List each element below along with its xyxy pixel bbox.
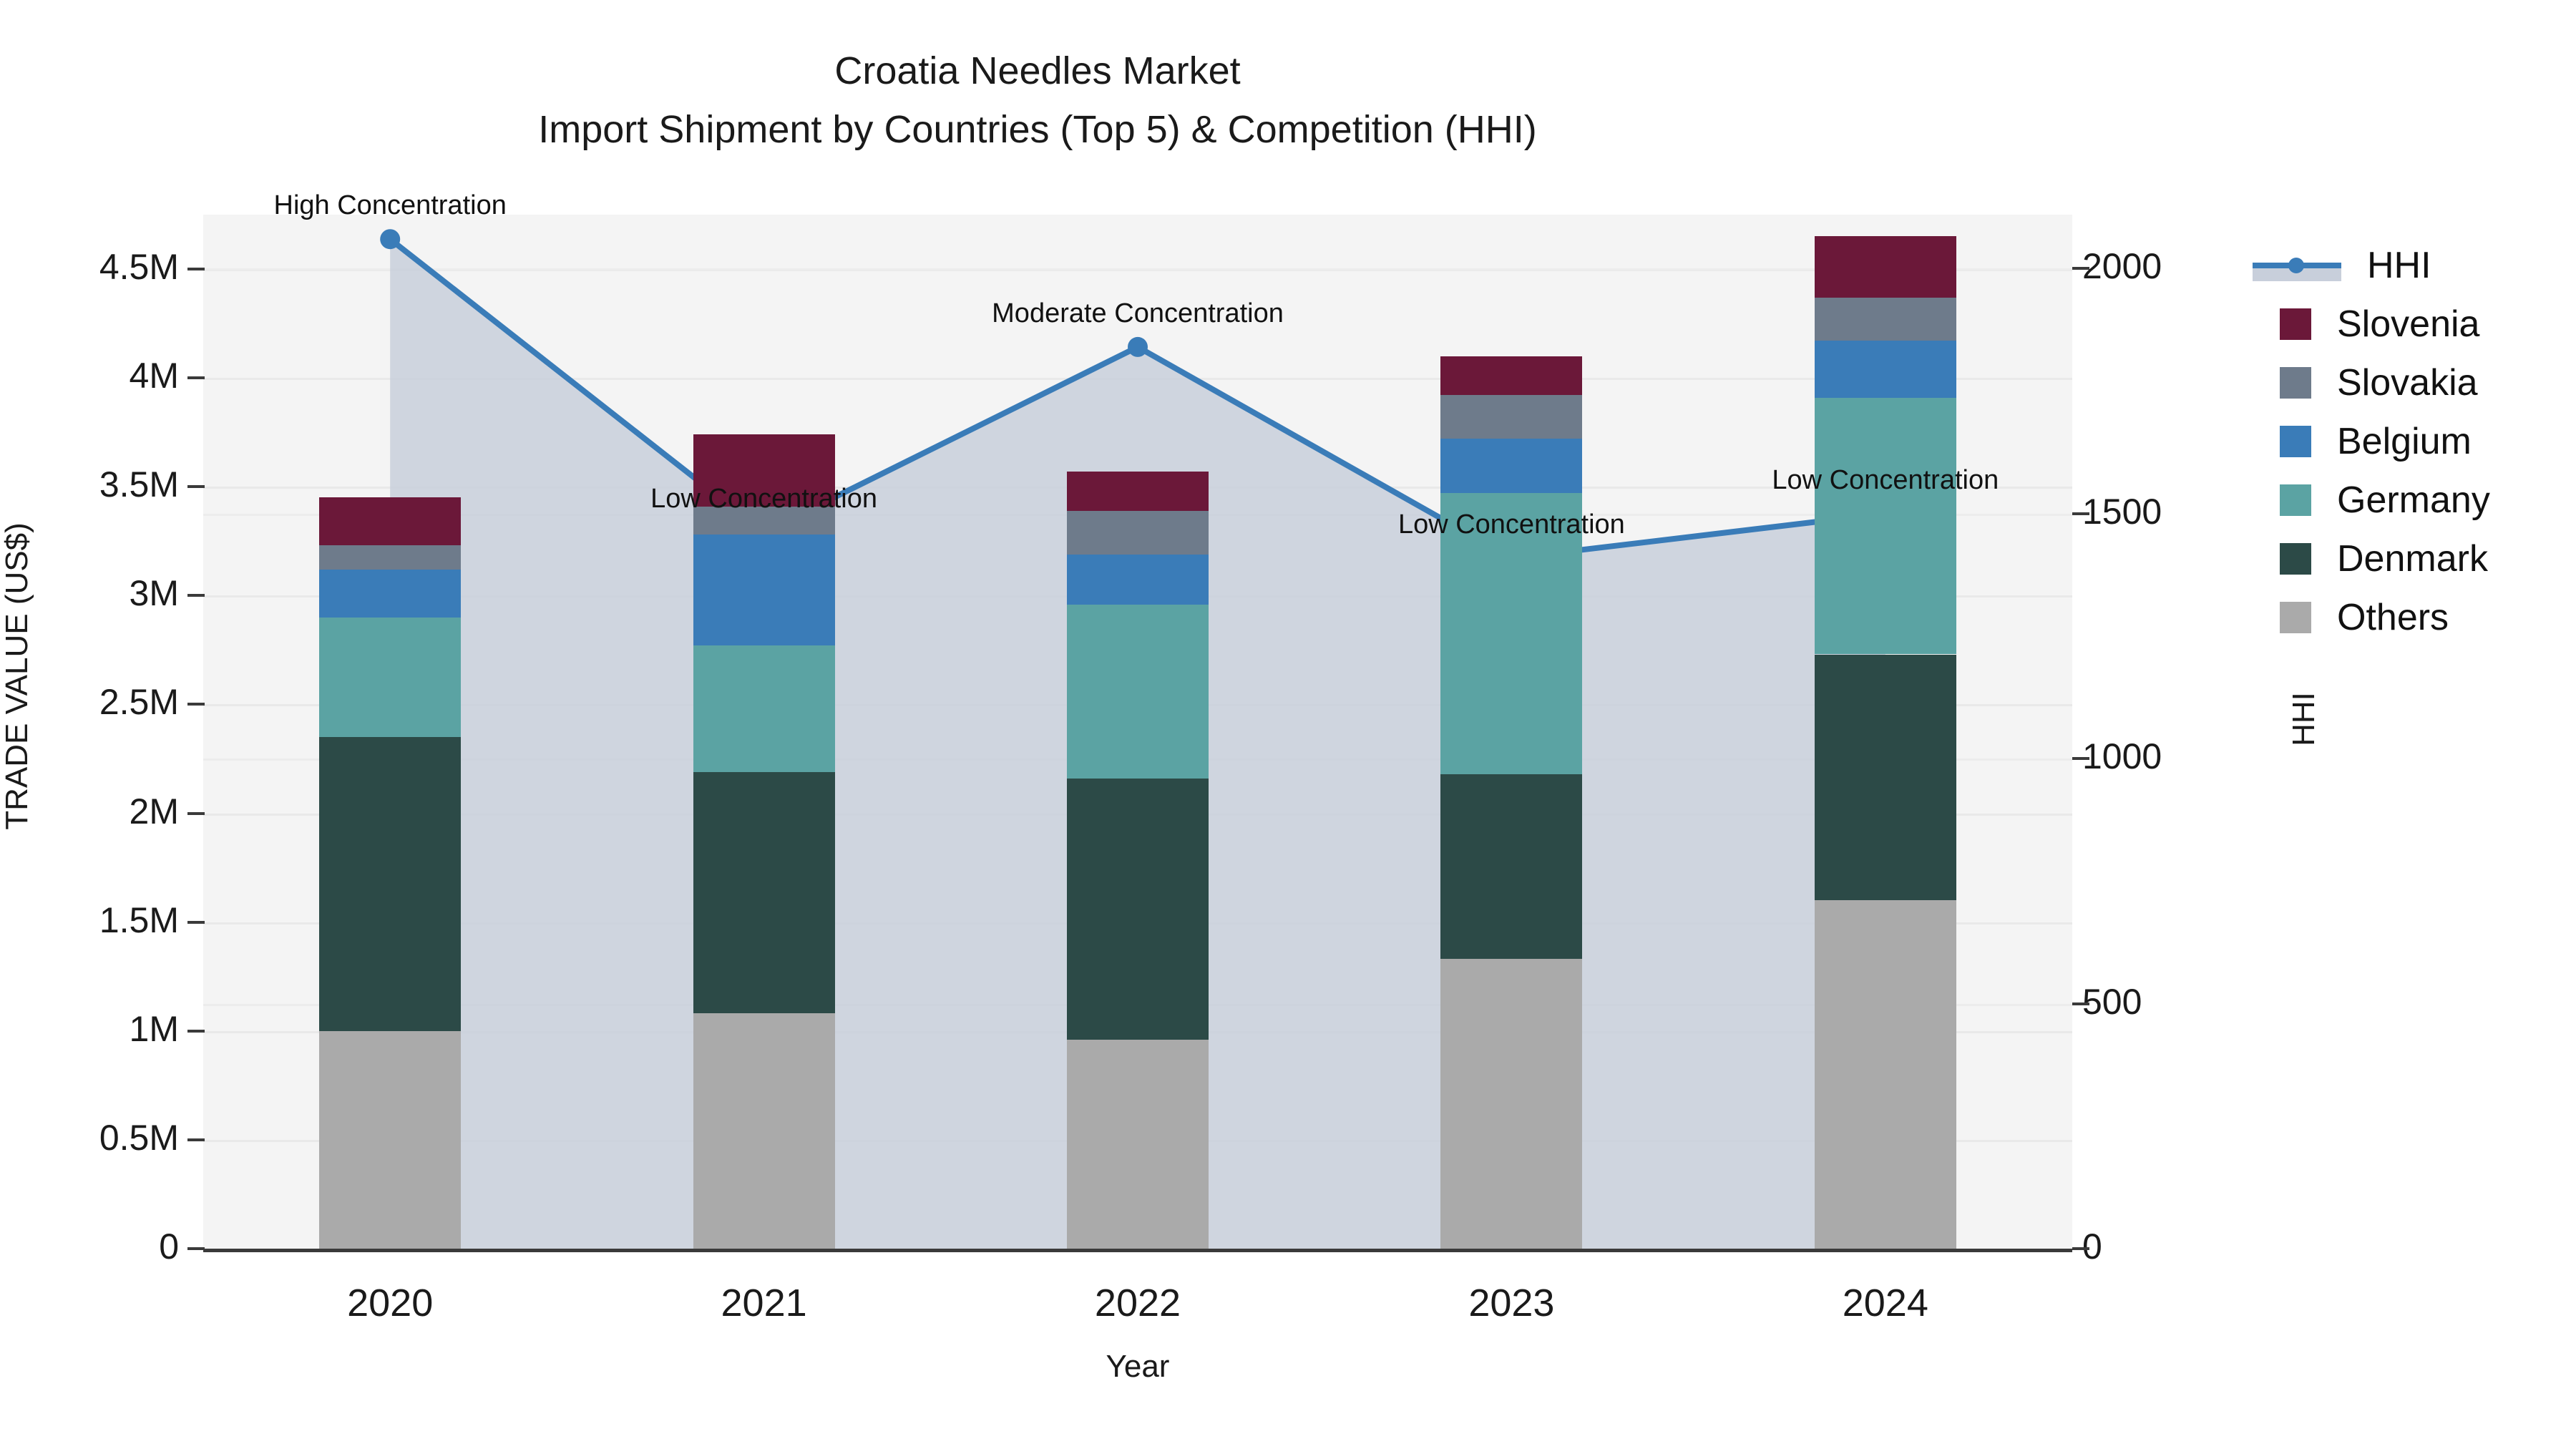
y-axis-left-tickmark-8 xyxy=(187,376,205,379)
legend-item-denmark[interactable]: Denmark xyxy=(2253,530,2567,588)
bar-segment-2022-slovenia[interactable] xyxy=(1067,472,1209,511)
bar-segment-2020-denmark[interactable] xyxy=(319,737,461,1031)
bar-segment-2024-denmark[interactable] xyxy=(1815,655,1956,901)
legend-color-swatch-icon xyxy=(2280,484,2311,516)
bar-segment-2020-slovakia[interactable] xyxy=(319,545,461,569)
y-axis-left-tick-9: 4.5M xyxy=(0,246,179,288)
legend-color-swatch-icon xyxy=(2280,426,2311,457)
y-axis-left-tickmark-6 xyxy=(187,594,205,597)
y-axis-right-tick-0: 0 xyxy=(2082,1226,2102,1267)
annotation-2023: Low Concentration xyxy=(1261,509,1762,540)
legend-label: Slovakia xyxy=(2337,361,2478,404)
x-axis-tick-2023: 2023 xyxy=(1368,1281,1654,1325)
y-axis-left-title: TRADE VALUE (US$) xyxy=(0,318,35,1034)
chart-title-line1: Croatia Needles Market xyxy=(834,49,1240,92)
chart-title-line2: Import Shipment by Countries (Top 5) & C… xyxy=(0,110,2075,149)
annotation-2021: Low Concentration xyxy=(514,484,1015,514)
bar-segment-2022-others[interactable] xyxy=(1067,1040,1209,1249)
bar-segment-2022-germany[interactable] xyxy=(1067,605,1209,779)
legend-label: HHI xyxy=(2367,244,2431,287)
bar-segment-2023-slovenia[interactable] xyxy=(1440,356,1582,396)
bar-2020[interactable] xyxy=(319,215,461,1249)
legend-color-swatch-icon xyxy=(2280,308,2311,340)
bar-segment-2023-denmark[interactable] xyxy=(1440,774,1582,960)
y-axis-right-tickmark-4 xyxy=(2072,267,2089,270)
chart-title: Croatia Needles Market Import Shipment b… xyxy=(0,52,2075,149)
legend-line-swatch-icon xyxy=(2253,250,2341,281)
bar-segment-2024-slovenia[interactable] xyxy=(1815,236,1956,297)
annotation-2024: Low Concentration xyxy=(1635,465,2136,496)
bar-2023[interactable] xyxy=(1440,215,1582,1249)
y-axis-left-tickmark-3 xyxy=(187,921,205,924)
x-axis-line xyxy=(203,1249,2072,1252)
legend-item-others[interactable]: Others xyxy=(2253,588,2567,647)
bar-2021[interactable] xyxy=(693,215,835,1249)
y-axis-left-tickmark-2 xyxy=(187,1030,205,1033)
y-axis-left-tickmark-0 xyxy=(187,1247,205,1250)
bar-segment-2023-slovakia[interactable] xyxy=(1440,395,1582,439)
bar-segment-2021-belgium[interactable] xyxy=(693,535,835,645)
bar-segment-2024-others[interactable] xyxy=(1815,900,1956,1249)
legend-label: Denmark xyxy=(2337,537,2488,580)
y-axis-left-tick-0: 0 xyxy=(0,1226,179,1267)
bar-segment-2022-denmark[interactable] xyxy=(1067,779,1209,1040)
bar-segment-2021-denmark[interactable] xyxy=(693,772,835,1014)
legend-color-swatch-icon xyxy=(2280,543,2311,575)
legend-item-slovenia[interactable]: Slovenia xyxy=(2253,295,2567,353)
bar-segment-2023-others[interactable] xyxy=(1440,959,1582,1249)
legend-color-swatch-icon xyxy=(2280,367,2311,399)
x-axis-title: Year xyxy=(203,1349,2072,1385)
x-axis-tick-2020: 2020 xyxy=(247,1281,533,1325)
bar-segment-2021-others[interactable] xyxy=(693,1013,835,1249)
y-axis-right-tickmark-1 xyxy=(2072,1002,2089,1005)
annotation-2022: Moderate Concentration xyxy=(887,298,1388,329)
y-axis-left-tick-1: 0.5M xyxy=(0,1117,179,1158)
legend: HHISloveniaSlovakiaBelgiumGermanyDenmark… xyxy=(2253,236,2567,647)
legend-item-germany[interactable]: Germany xyxy=(2253,471,2567,530)
y-axis-right-tickmark-2 xyxy=(2072,757,2089,760)
legend-item-slovakia[interactable]: Slovakia xyxy=(2253,353,2567,412)
bar-2024[interactable] xyxy=(1815,215,1956,1249)
y-axis-left-tickmark-9 xyxy=(187,268,205,270)
bar-2022[interactable] xyxy=(1067,215,1209,1249)
x-axis-tick-2021: 2021 xyxy=(621,1281,907,1325)
y-axis-left-tickmark-4 xyxy=(187,812,205,815)
legend-label: Belgium xyxy=(2337,420,2472,463)
legend-label: Others xyxy=(2337,596,2449,639)
y-axis-right-tick-3: 1500 xyxy=(2082,491,2162,532)
y-axis-left-tickmark-5 xyxy=(187,703,205,706)
y-axis-right-tickmark-3 xyxy=(2072,512,2089,515)
y-axis-left-tickmark-7 xyxy=(187,485,205,488)
x-axis-tick-2022: 2022 xyxy=(995,1281,1281,1325)
y-axis-right-tick-4: 2000 xyxy=(2082,245,2162,287)
bar-segment-2024-germany[interactable] xyxy=(1815,398,1956,655)
legend-label: Germany xyxy=(2337,479,2490,522)
bar-segment-2020-slovenia[interactable] xyxy=(319,497,461,545)
bar-segment-2020-belgium[interactable] xyxy=(319,570,461,618)
bar-segment-2020-germany[interactable] xyxy=(319,618,461,737)
bar-segment-2023-belgium[interactable] xyxy=(1440,439,1582,493)
y-axis-right-tick-2: 1000 xyxy=(2082,736,2162,777)
legend-item-hhi[interactable]: HHI xyxy=(2253,236,2567,295)
bar-segment-2020-others[interactable] xyxy=(319,1031,461,1249)
bar-segment-2024-slovakia[interactable] xyxy=(1815,298,1956,341)
annotation-2020: High Concentration xyxy=(140,190,640,221)
legend-color-swatch-icon xyxy=(2280,602,2311,633)
bar-segment-2022-slovakia[interactable] xyxy=(1067,511,1209,555)
x-axis-tick-2024: 2024 xyxy=(1742,1281,2029,1325)
y-axis-left-tickmark-1 xyxy=(187,1138,205,1141)
bar-segment-2022-belgium[interactable] xyxy=(1067,555,1209,605)
bar-segment-2024-belgium[interactable] xyxy=(1815,341,1956,397)
legend-item-belgium[interactable]: Belgium xyxy=(2253,412,2567,471)
bar-segment-2021-germany[interactable] xyxy=(693,645,835,771)
legend-label: Slovenia xyxy=(2337,303,2479,346)
y-axis-right-tick-1: 500 xyxy=(2082,981,2142,1023)
y-axis-right-tickmark-0 xyxy=(2072,1247,2089,1250)
